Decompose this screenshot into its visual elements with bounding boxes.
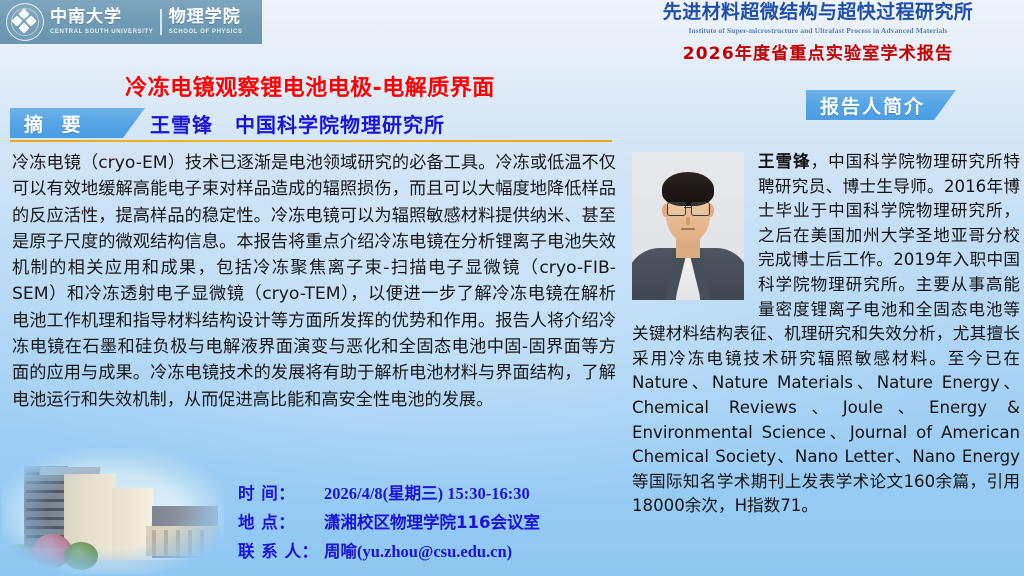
- seminar-poster: 中南大学 CENTRAL SOUTH UNIVERSITY 物理学院 SCHOO…: [0, 0, 1024, 576]
- university-logo-band: 中南大学 CENTRAL SOUTH UNIVERSITY 物理学院 SCHOO…: [0, 0, 262, 44]
- physics-building-photo: [2, 448, 224, 574]
- school-name-cn: 物理学院: [169, 9, 243, 26]
- speaker-bio: 王雪锋，中国科学院物理研究所特聘研究员、博士生导师。2016年博士毕业于中国科学…: [632, 150, 1020, 519]
- speaker-name: 王雪锋: [150, 109, 213, 138]
- abstract-body: 冷冻电镜（cryo-EM）技术已逐渐是电池领域研究的必备工具。冷冻或低温不仅可以…: [12, 150, 616, 413]
- contact-value[interactable]: 周喻(yu.zhou@csu.edu.cn): [324, 538, 512, 562]
- abstract-section-tag: 摘 要: [10, 108, 145, 138]
- gold-divider: [10, 140, 612, 142]
- bio-text-wrap-spacer: [632, 150, 750, 302]
- university-name-block: 中南大学 CENTRAL SOUTH UNIVERSITY: [50, 9, 153, 35]
- institute-name-en: Institute of Super-microstructure and Ul…: [618, 26, 1018, 35]
- school-name-block: 物理学院 SCHOOL OF PHYSICS: [169, 9, 243, 35]
- place-value: 潇湘校区物理学院116会议室: [324, 509, 540, 533]
- time-label: 时 间：: [238, 480, 324, 504]
- time-value: 2026/4/8(星期三) 15:30-16:30: [324, 480, 530, 504]
- university-seal-icon: [6, 3, 44, 41]
- speaker-affiliation: 中国科学院物理研究所: [235, 109, 445, 138]
- detail-row-time: 时 间： 2026/4/8(星期三) 15:30-16:30: [238, 480, 618, 504]
- lecture-series-title: 2026年度省重点实验室学术报告: [618, 39, 1018, 64]
- institute-heading: 先进材料超微结构与超快过程研究所 Institute of Super-micr…: [618, 2, 1018, 64]
- university-name-en: CENTRAL SOUTH UNIVERSITY: [50, 29, 153, 35]
- institute-name-cn: 先进材料超微结构与超快过程研究所: [618, 2, 1018, 24]
- page-title: 冷冻电镜观察锂电池电极-电解质界面: [0, 70, 620, 102]
- speaker-line: 王雪锋 中国科学院物理研究所: [150, 108, 610, 138]
- detail-row-place: 地 点： 潇湘校区物理学院116会议室: [238, 509, 618, 533]
- bio-speaker-name: 王雪锋: [758, 152, 811, 171]
- university-name-cn: 中南大学: [50, 9, 153, 26]
- detail-row-contact: 联 系 人： 周喻(yu.zhou@csu.edu.cn): [238, 538, 618, 562]
- bio-section-tag: 报告人简介: [806, 90, 956, 120]
- event-details: 时 间： 2026/4/8(星期三) 15:30-16:30 地 点： 潇湘校区…: [238, 480, 618, 567]
- contact-label: 联 系 人：: [238, 538, 324, 562]
- school-name-en: SCHOOL OF PHYSICS: [169, 29, 243, 35]
- logo-divider: [160, 9, 162, 35]
- place-label: 地 点：: [238, 509, 324, 533]
